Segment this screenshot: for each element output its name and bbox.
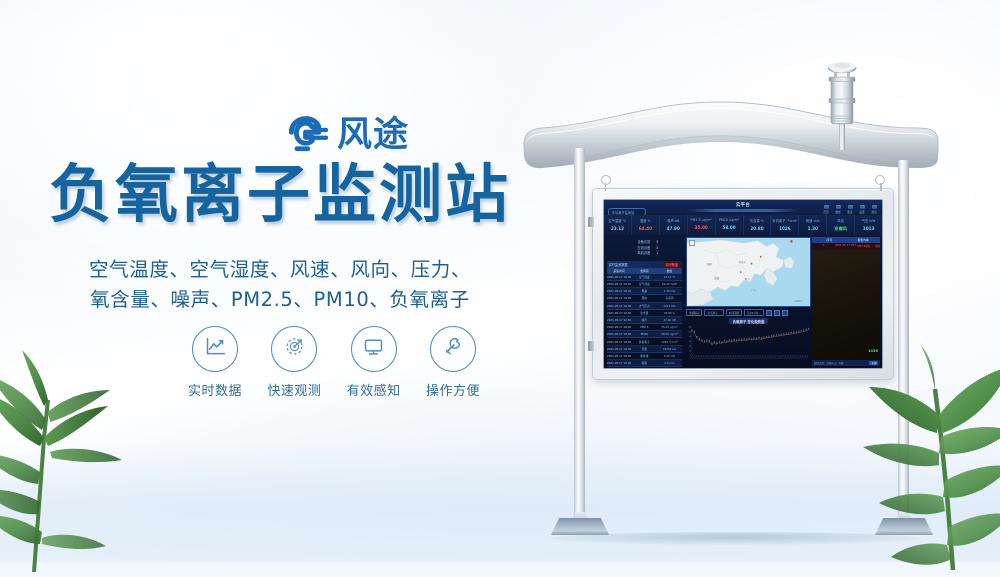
report-icon bbox=[848, 205, 853, 209]
stat-key: 风速 m/s bbox=[799, 218, 826, 223]
stat-key: 气压 hPa bbox=[855, 218, 882, 223]
stat-key: 风向 bbox=[827, 218, 854, 223]
range-filter-label: 时间范围 bbox=[726, 309, 742, 316]
chart-view-toggle[interactable] bbox=[766, 310, 772, 316]
table-cell: 2021-05-17 10:30 bbox=[607, 346, 632, 352]
feature-item-realtime-data: 实时数据 bbox=[184, 326, 246, 399]
table-row[interactable]: 2021-05-17 10:30空气温度23.12 ℃ bbox=[607, 274, 683, 281]
map-region-label: 新疆 bbox=[707, 262, 712, 266]
header-nav-item[interactable]: 数据 bbox=[834, 205, 842, 214]
map-zoom-control[interactable] bbox=[689, 240, 695, 246]
table-cell: 东南风 bbox=[657, 295, 682, 301]
realtime-stat-strip: 空气温度 ℃23.12湿度 %64.40噪声 dB47.90PM2.5 ug/m… bbox=[604, 215, 882, 235]
table-cell: 23.12 ℃ bbox=[657, 274, 682, 280]
table-cell: 35.00 ug/m³ bbox=[657, 324, 682, 330]
data-icon bbox=[836, 205, 841, 209]
video-status-label: 在线 bbox=[839, 361, 844, 365]
stat-card: PM2.5 ug/m³35.00 bbox=[688, 215, 716, 235]
feature-label: 有效感知 bbox=[343, 380, 405, 399]
stat-key: 空气温度 ℃ bbox=[604, 218, 631, 223]
factor-filter-label: 监测因子 bbox=[686, 309, 702, 316]
table-row[interactable]: 2021-05-17 10:30PM1058.00 ug/m³ bbox=[607, 331, 683, 338]
video-location-label: 监控点位：公园入口 bbox=[814, 361, 837, 365]
svg-text:23:30: 23:30 bbox=[806, 356, 809, 360]
table-cell: 35200 lux bbox=[657, 346, 682, 352]
brand-name: 风途 bbox=[337, 118, 409, 153]
enclosure-hinge-top bbox=[588, 217, 594, 227]
realtime-badge: 实时数据 bbox=[663, 262, 680, 267]
stat-value: 东南风 bbox=[827, 226, 854, 232]
video-footer-bar: 监控点位：公园入口 在线 全屏 bbox=[812, 360, 880, 366]
support-pole-right bbox=[898, 160, 909, 523]
alarm-row[interactable]: 12021-05-17 09:12PM2.5超标 — 当前值 95 ug/m³ bbox=[812, 243, 880, 249]
chart-filter-bar: 监测因子 负氧离子 时间范围 近24小时 bbox=[686, 309, 811, 316]
feature-list: 实时数据 快速观测 bbox=[184, 326, 484, 399]
station-selector-label: 负氧离子监测站 bbox=[612, 210, 634, 215]
map-region-label: 内蒙古 bbox=[739, 260, 746, 264]
header-nav-label: 数据 bbox=[835, 210, 840, 214]
table-cell: 1.30 m/s bbox=[657, 288, 682, 294]
feature-icon-circle bbox=[430, 326, 476, 372]
header-tab-strip[interactable] bbox=[687, 209, 798, 212]
dashboard-center-panel: 新疆 西藏 内蒙古 四川 广东 500km 监测因子 负氧离子 时间范围 近24… bbox=[685, 235, 813, 368]
feature-icon-circle bbox=[351, 326, 397, 372]
stat-value: 64.40 bbox=[632, 226, 659, 231]
header-icon-group: 首页 数据 报表 设置 退出 bbox=[822, 205, 878, 214]
feature-item-easy-operation: 操作方便 bbox=[422, 326, 484, 399]
map-region-label: 西藏 bbox=[714, 276, 719, 280]
hanging-hook-right bbox=[875, 175, 885, 185]
stat-value: 47.90 bbox=[660, 226, 687, 231]
svg-text:1167: 1167 bbox=[689, 331, 692, 333]
stat-key: 氧含量 % bbox=[744, 218, 771, 223]
svg-text:233: 233 bbox=[689, 350, 691, 352]
data-table-body[interactable]: 2021-05-17 10:30空气温度23.12 ℃2021-05-17 10… bbox=[607, 274, 683, 367]
table-cell: 空气湿度 bbox=[632, 281, 657, 287]
stat-card: 气压 hPa1013 bbox=[855, 215, 882, 235]
video-fullscreen-button[interactable]: 全屏 bbox=[869, 361, 878, 365]
brand-logo: 风途 bbox=[284, 114, 409, 156]
counter-label: 离线设备 bbox=[624, 251, 650, 257]
support-pole-left bbox=[574, 148, 585, 523]
base-plate-left bbox=[551, 518, 609, 535]
table-cell: 2021-05-17 10:30 bbox=[607, 338, 632, 344]
feature-label: 快速观测 bbox=[263, 380, 325, 399]
ultrasonic-weather-sensor bbox=[820, 60, 864, 152]
table-cell: 2021-05-17 10:30 bbox=[607, 360, 632, 366]
ground-shadow bbox=[550, 532, 920, 545]
table-cell: 雨量 bbox=[632, 360, 657, 366]
feature-item-effective-sensing: 有效感知 bbox=[343, 326, 405, 399]
stat-card: 风速 m/s1.30 bbox=[799, 215, 827, 235]
table-cell: 风向 bbox=[632, 295, 657, 301]
header-nav-label: 设置 bbox=[859, 210, 864, 214]
table-cell: 2021-05-17 10:30 bbox=[607, 295, 632, 301]
table-row[interactable]: 2021-05-17 10:30负氧离子1026 个/cm³ bbox=[607, 338, 683, 345]
alarm-table-body[interactable]: 12021-05-17 09:12PM2.5超标 — 当前值 95 ug/m³ bbox=[812, 243, 880, 249]
gear-icon bbox=[860, 205, 865, 209]
china-map[interactable]: 新疆 西藏 内蒙古 四川 广东 500km bbox=[686, 237, 811, 307]
table-cell: 2021-05-17 10:30 bbox=[607, 331, 632, 337]
radar-sensor-icon bbox=[283, 335, 306, 363]
data-table-title: 实时监测数据 bbox=[609, 262, 628, 267]
chart-export-button[interactable] bbox=[774, 310, 780, 316]
table-cell: 20.80 % bbox=[657, 310, 682, 316]
base-plate-right bbox=[875, 518, 933, 535]
svg-text:700: 700 bbox=[689, 341, 691, 343]
svg-text:933: 933 bbox=[689, 336, 691, 338]
wrench-icon bbox=[441, 335, 464, 363]
table-cell: 2021-05-17 10:30 bbox=[607, 303, 632, 309]
device-counter: 离线设备1 bbox=[607, 251, 683, 257]
monitoring-dashboard[interactable]: 负氧离子监测站 云平台 首页 数据 报表 设置 退出 空气温度 ℃23.12湿度… bbox=[604, 200, 882, 368]
table-cell: 氧含量 bbox=[632, 310, 657, 316]
stat-key: 湿度 % bbox=[632, 218, 659, 223]
sensor-parameter-list: 空气温度、空气湿度、风速、风向、压力、 氧含量、噪声、PM2.5、PM10、负氧… bbox=[0, 255, 560, 314]
table-cell: 0.0 mm bbox=[657, 360, 682, 366]
table-cell: 64.40 %RH bbox=[657, 281, 682, 287]
stat-card: PM10 ug/m³58.00 bbox=[716, 215, 744, 235]
aoi-overlay-value: 1026 bbox=[868, 349, 878, 353]
table-row[interactable]: 2021-05-17 10:30雨量0.0 mm bbox=[607, 360, 683, 367]
dashboard-right-panel: 序号报警内容 12021-05-17 09:12PM2.5超标 — 当前值 95… bbox=[812, 235, 882, 368]
alarm-cell: PM2.5超标 — 当前值 95 ug/m³ bbox=[857, 243, 880, 249]
header-nav-label: 首页 bbox=[823, 210, 828, 214]
stat-value: 1013 bbox=[855, 226, 882, 231]
table-row[interactable]: 2021-05-17 10:30光照35200 lux bbox=[607, 346, 683, 353]
table-cell: 1026 个/cm³ bbox=[657, 338, 682, 344]
table-cell: 2021-05-17 10:30 bbox=[607, 288, 632, 294]
header-nav-item[interactable]: 报表 bbox=[846, 205, 854, 214]
page-title: 负氧离子监测站 bbox=[0, 163, 560, 227]
stat-value: 58.00 bbox=[716, 225, 743, 230]
table-row[interactable]: 2021-05-17 10:30大气压力1013 hPa bbox=[607, 303, 683, 310]
feature-icon-circle bbox=[271, 326, 317, 372]
monitor-icon bbox=[362, 335, 385, 363]
table-cell: 1013 hPa bbox=[657, 303, 682, 309]
table-cell: 2021-05-17 10:30 bbox=[607, 353, 632, 359]
alarm-cell: 1 bbox=[812, 243, 835, 249]
table-row[interactable]: 2021-05-17 10:30紫外线3.20 UVI bbox=[607, 353, 683, 360]
camera-video-feed[interactable]: 1026 bbox=[812, 250, 880, 360]
table-row[interactable]: 2021-05-17 10:30空气湿度64.40 %RH bbox=[607, 281, 683, 288]
feature-item-fast-observation: 快速观测 bbox=[263, 326, 325, 399]
table-cell: 2021-05-17 10:30 bbox=[607, 324, 632, 330]
hanging-hook-left bbox=[601, 175, 611, 185]
map-region-label: 广东 bbox=[751, 288, 756, 292]
table-cell: 3.20 UVI bbox=[657, 353, 682, 359]
table-cell: 47.90 dB bbox=[657, 317, 682, 323]
table-cell: 风速 bbox=[632, 288, 657, 294]
header-nav-item[interactable]: 首页 bbox=[822, 205, 830, 214]
stat-card: 风向东南风 bbox=[827, 215, 855, 235]
dashboard-body: 设备总数3在线设备2离线设备1 实时监测数据 实时数据 采集时间监测项数值 20… bbox=[604, 235, 882, 368]
enclosure-hinge-bottom bbox=[588, 341, 594, 351]
stat-value: 23.12 bbox=[604, 226, 631, 231]
stat-value: 1.30 bbox=[799, 226, 826, 231]
header-nav-label: 退出 bbox=[871, 210, 876, 214]
stat-card: 噪声 dB47.90 bbox=[660, 215, 688, 235]
feature-label: 实时数据 bbox=[184, 380, 246, 399]
table-row[interactable]: 2021-05-17 10:30氧含量20.80 % bbox=[607, 310, 683, 317]
fengtu-cloud-g-icon bbox=[284, 114, 328, 156]
map-scale-label: 500km bbox=[794, 300, 802, 303]
table-row[interactable]: 2021-05-17 10:30PM2.535.00 ug/m³ bbox=[607, 324, 683, 331]
table-cell: 2021-05-17 10:30 bbox=[607, 310, 632, 316]
chart-refresh-button[interactable] bbox=[782, 310, 788, 316]
stat-card: 空气温度 ℃23.12 bbox=[604, 215, 632, 235]
stat-key: PM10 ug/m³ bbox=[716, 218, 743, 222]
feature-icon-circle bbox=[192, 326, 238, 372]
trend-chart-title: 负氧离子 变化趋势图 bbox=[729, 318, 769, 324]
stat-key: 负氧离子 个/cm³ bbox=[771, 218, 798, 223]
svg-text:467: 467 bbox=[689, 345, 691, 347]
table-cell: 2021-05-17 10:30 bbox=[607, 274, 632, 280]
table-row[interactable]: 2021-05-17 10:30风速1.30 m/s bbox=[607, 288, 683, 295]
sensor-parameter-line-2: 氧含量、噪声、PM2.5、PM10、负氧离子 bbox=[0, 285, 560, 315]
header-nav-item[interactable]: 设置 bbox=[858, 205, 866, 214]
stat-card: 氧含量 %20.80 bbox=[744, 215, 772, 235]
table-cell: 大气压力 bbox=[632, 303, 657, 309]
svg-text:1400: 1400 bbox=[689, 327, 692, 329]
table-cell: 光照 bbox=[632, 346, 657, 352]
data-table-header: 实时监测数据 实时数据 bbox=[607, 261, 683, 268]
stat-value: 1026 bbox=[771, 226, 798, 231]
counter-value: 1 bbox=[656, 251, 664, 257]
table-cell: PM2.5 bbox=[632, 324, 657, 330]
device-counter-group: 设备总数3在线设备2离线设备1 bbox=[607, 240, 683, 257]
home-icon bbox=[824, 205, 829, 209]
sensor-parameter-line-1: 空气温度、空气湿度、风速、风向、压力、 bbox=[0, 255, 560, 285]
table-row[interactable]: 2021-05-17 10:30风向东南风 bbox=[607, 295, 683, 302]
marketing-copy-column: 风途 负氧离子监测站 空气温度、空气湿度、风速、风向、压力、 氧含量、噪声、PM… bbox=[0, 0, 560, 562]
table-cell: 负氧离子 bbox=[632, 338, 657, 344]
table-cell: 2021-05-17 10:30 bbox=[607, 317, 632, 323]
stat-card: 湿度 %64.40 bbox=[632, 215, 660, 235]
table-cell: 紫外线 bbox=[632, 353, 657, 359]
factor-select[interactable]: 负氧离子 bbox=[704, 309, 723, 316]
stat-key: 噪声 dB bbox=[660, 218, 687, 223]
dashboard-left-panel: 设备总数3在线设备2离线设备1 实时监测数据 实时数据 采集时间监测项数值 20… bbox=[604, 235, 685, 368]
logout-icon bbox=[872, 205, 877, 209]
stat-card: 负氧离子 个/cm³1026 bbox=[771, 215, 799, 235]
stat-value: 35.00 bbox=[688, 225, 715, 230]
table-cell: 2021-05-17 10:30 bbox=[607, 281, 632, 287]
stat-value: 20.80 bbox=[744, 226, 771, 231]
range-select[interactable]: 近24小时 bbox=[744, 309, 764, 316]
table-cell: 噪声 bbox=[632, 317, 657, 323]
table-cell: 空气温度 bbox=[632, 274, 657, 280]
table-cell: 58.00 ug/m³ bbox=[657, 331, 682, 337]
table-row[interactable]: 2021-05-17 10:30噪声47.90 dB bbox=[607, 317, 683, 324]
stat-key: PM2.5 ug/m³ bbox=[688, 218, 715, 222]
monitoring-station-kiosk: 负氧离子监测站 云平台 首页 数据 报表 设置 退出 空气温度 ℃23.12湿度… bbox=[520, 60, 980, 540]
dashboard-header: 负氧离子监测站 云平台 首页 数据 报表 设置 退出 bbox=[604, 200, 882, 215]
table-cell: PM10 bbox=[632, 331, 657, 337]
line-chart-icon bbox=[204, 335, 227, 363]
alarm-cell: 2021-05-17 09:12 bbox=[835, 243, 858, 249]
lcd-screen[interactable]: 负氧离子监测站 云平台 首页 数据 报表 设置 退出 空气温度 ℃23.12湿度… bbox=[603, 199, 883, 369]
trend-line-chart[interactable]: 02334677009331167140000:0000:3001:0001:3… bbox=[686, 325, 811, 366]
header-nav-item[interactable]: 退出 bbox=[870, 205, 878, 214]
map-region-label: 四川 bbox=[745, 277, 750, 281]
header-nav-label: 报表 bbox=[847, 210, 852, 214]
display-enclosure: 负氧离子监测站 云平台 首页 数据 报表 设置 退出 空气温度 ℃23.12湿度… bbox=[592, 188, 894, 380]
feature-label: 操作方便 bbox=[422, 380, 484, 399]
